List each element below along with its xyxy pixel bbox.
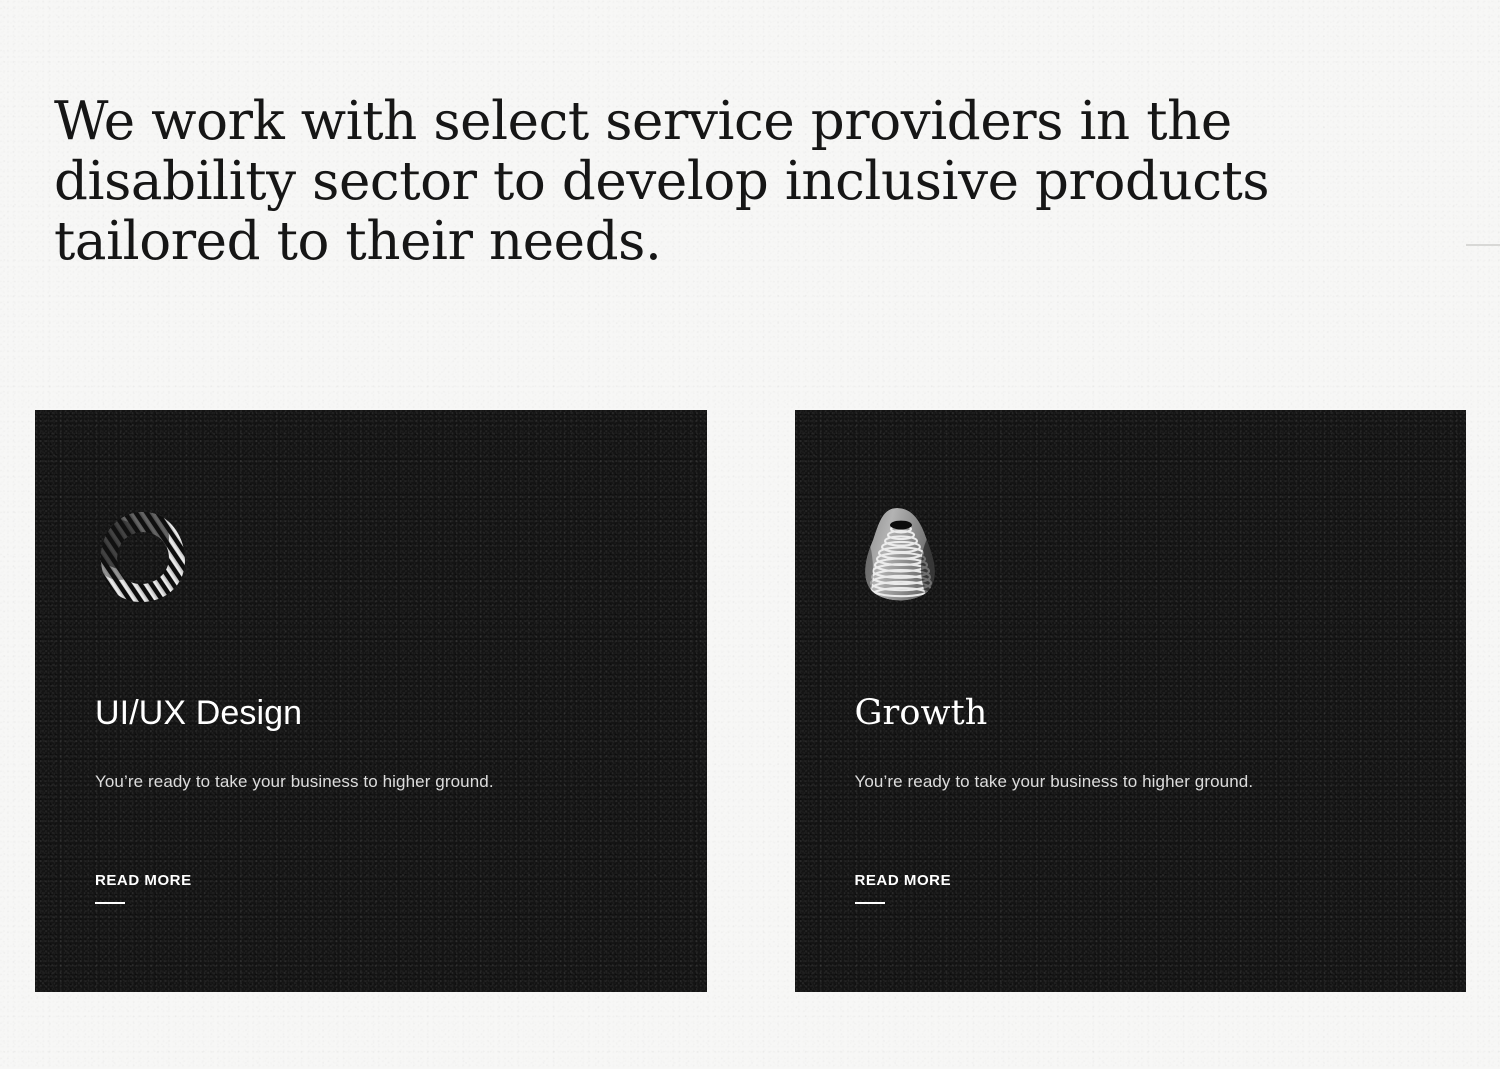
read-more-link[interactable]: READ MORE bbox=[95, 872, 192, 904]
card-title: Growth bbox=[855, 693, 988, 733]
card-title: UI/UX Design bbox=[95, 693, 302, 733]
service-card-ui-ux-design[interactable]: UI/UX Design You’re ready to take your b… bbox=[35, 410, 707, 992]
card-description: You’re ready to take your business to hi… bbox=[855, 770, 1254, 794]
spiral-cone-icon bbox=[855, 498, 951, 614]
page-title-line-1: We work with select service providers in… bbox=[54, 92, 1234, 152]
read-more-underline bbox=[855, 902, 885, 904]
card-description: You’re ready to take your business to hi… bbox=[95, 770, 494, 794]
service-card-growth[interactable]: Growth You’re ready to take your busines… bbox=[795, 410, 1467, 992]
service-card-grid: UI/UX Design You’re ready to take your b… bbox=[35, 410, 1466, 992]
edge-divider bbox=[1466, 244, 1500, 246]
page-title: We work with select service providers in… bbox=[54, 92, 1234, 272]
striped-torus-icon bbox=[95, 498, 191, 614]
page-title-line-3: tailored to their needs. bbox=[54, 212, 1234, 272]
read-more-underline bbox=[95, 902, 125, 904]
read-more-label: READ MORE bbox=[95, 872, 192, 890]
read-more-link[interactable]: READ MORE bbox=[855, 872, 952, 904]
page-title-line-2: disability sector to develop inclusive p… bbox=[54, 152, 1234, 212]
read-more-label: READ MORE bbox=[855, 872, 952, 890]
